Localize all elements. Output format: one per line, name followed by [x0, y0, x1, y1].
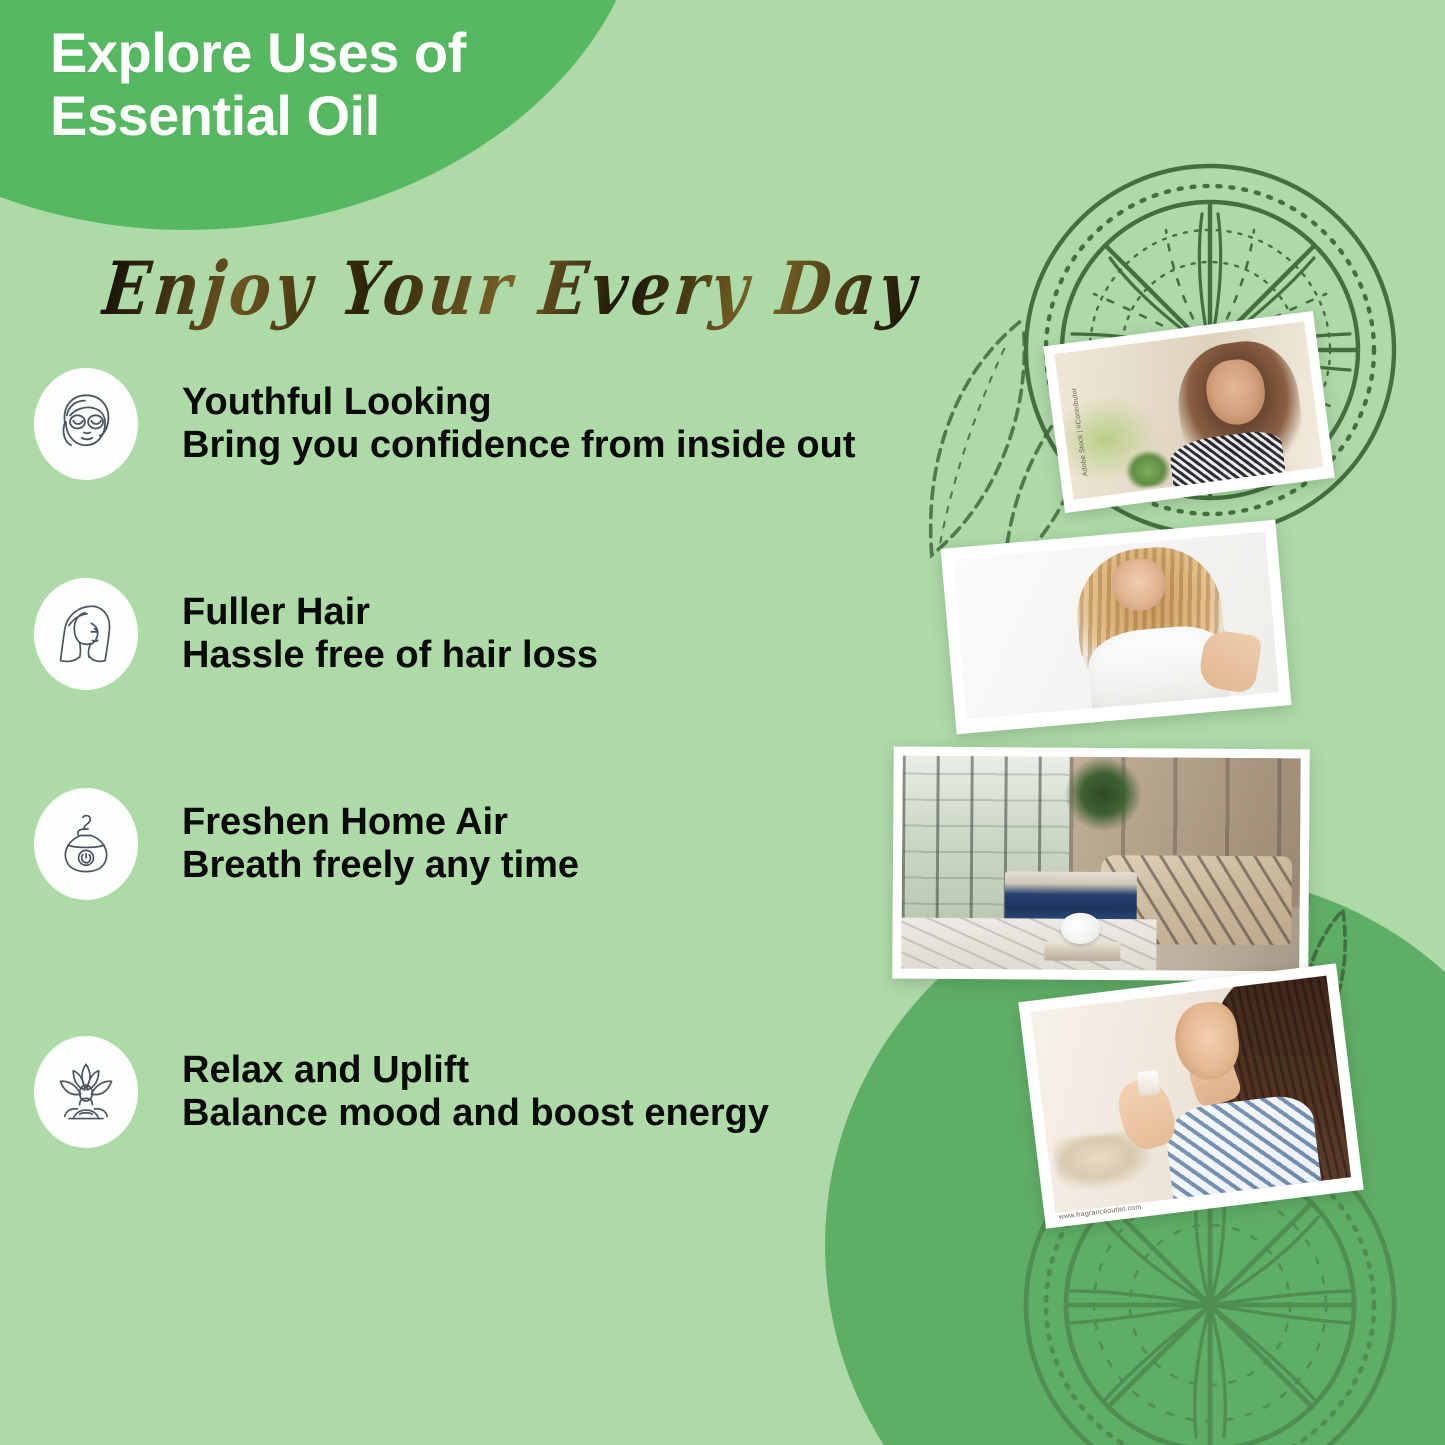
photo-image [1031, 976, 1352, 1214]
photo-image [1054, 321, 1323, 500]
photo-smiling-woman-interior: Adobe Stock | #Contributor [1043, 311, 1335, 513]
scene-fragrance-bottle [1137, 1070, 1161, 1097]
feature-icon-badge [34, 788, 138, 900]
feature-title: Fuller Hair [182, 591, 598, 634]
feature-icon-badge [34, 578, 138, 690]
tagline-script: Enjoy Your Every Day [98, 245, 923, 331]
scene-books [1045, 942, 1121, 962]
feature-subtitle: Hassle free of hair loss [182, 634, 598, 677]
feature-text: Youthful Looking Bring you confidence fr… [182, 381, 855, 468]
feature-subtitle: Breath freely any time [182, 844, 579, 887]
photo-scene [901, 756, 1300, 972]
facial-mask-icon [52, 390, 120, 458]
feature-item-fuller-hair: Fuller Hair Hassle free of hair loss [34, 578, 598, 690]
feature-icon-badge [34, 1036, 138, 1148]
photo-image [952, 532, 1279, 720]
long-hair-profile-icon [52, 600, 120, 668]
lotus-meditation-icon [52, 1058, 120, 1126]
photo-scene [1031, 976, 1352, 1214]
feature-item-relax-and-uplift: Relax and Uplift Balance mood and boost … [34, 1036, 769, 1148]
feature-subtitle: Bring you confidence from inside out [182, 424, 855, 467]
photo-blonde-wavy-hair [941, 520, 1292, 735]
page-title-line-1: Explore Uses of [50, 22, 690, 85]
scene-plant [1123, 443, 1173, 490]
feature-item-youthful-looking: Youthful Looking Bring you confidence fr… [34, 368, 855, 480]
feature-text: Fuller Hair Hassle free of hair loss [182, 591, 598, 678]
feature-subtitle: Balance mood and boost energy [182, 1092, 769, 1135]
photo-image [901, 756, 1300, 972]
photo-boho-living-room [892, 747, 1310, 982]
feature-text: Relax and Uplift Balance mood and boost … [182, 1049, 769, 1136]
page-title: Explore Uses of Essential Oil [50, 22, 690, 147]
feature-title: Relax and Uplift [182, 1049, 769, 1092]
page-title-line-2: Essential Oil [50, 85, 690, 148]
photo-scene [1054, 321, 1323, 500]
infographic-canvas: Explore Uses of Essential Oil Enjoy Your… [0, 0, 1445, 1445]
feature-item-freshen-home-air: Freshen Home Air Breath freely any time [34, 788, 579, 900]
feature-text: Freshen Home Air Breath freely any time [182, 801, 579, 888]
photo-scene [952, 532, 1279, 720]
aroma-diffuser-icon [52, 810, 120, 878]
feature-title: Freshen Home Air [182, 801, 579, 844]
feature-title: Youthful Looking [182, 381, 855, 424]
feature-icon-badge [34, 368, 138, 480]
photo-woman-applying-fragrance: www.fragranceoutlet.com [1018, 963, 1363, 1228]
scene-clothing [1163, 1092, 1324, 1213]
